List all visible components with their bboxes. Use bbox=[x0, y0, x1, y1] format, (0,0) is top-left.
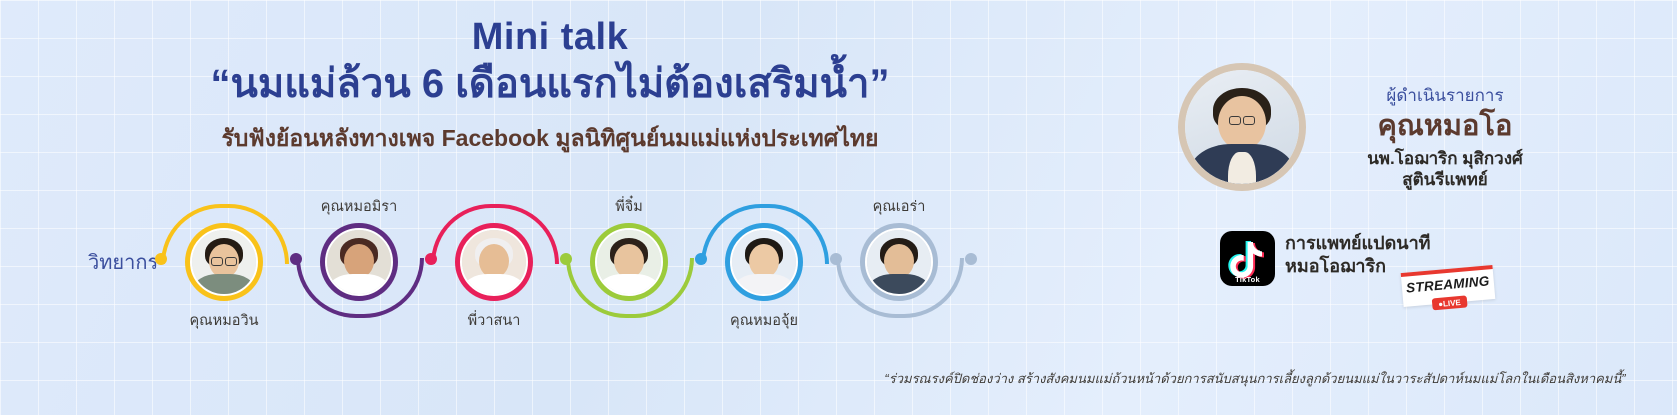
headline-quote: “นมแม่ล้วน 6 เดือนแรกไม่ต้องเสริมน้ำ” bbox=[0, 62, 1100, 107]
speaker-photo bbox=[462, 230, 526, 294]
connector-dot bbox=[560, 253, 572, 265]
footer-caption: “ร่วมรณรงค์ปิดช่องว่าง สร้างสังคมนมแม่ถ้… bbox=[840, 368, 1670, 389]
speaker-photo bbox=[327, 230, 391, 294]
host-info: ผู้ดำเนินรายการ คุณหมอโอ นพ.โอฌาริก มุสิ… bbox=[1320, 82, 1570, 190]
tiktok-label: TikTok bbox=[1220, 275, 1275, 284]
connector-dot bbox=[290, 253, 302, 265]
streaming-label: STREAMING bbox=[1401, 273, 1494, 296]
speaker-item[interactable]: คุณเอร่า bbox=[860, 223, 938, 301]
speaker-name: คุณเอร่า bbox=[824, 195, 974, 218]
connector-dot bbox=[155, 253, 167, 265]
connector-dot bbox=[425, 253, 437, 265]
live-badge: ●LIVE bbox=[1432, 295, 1468, 310]
speakers-section-label: วิทยากร bbox=[88, 246, 158, 278]
host-avatar bbox=[1178, 63, 1306, 191]
speaker-item[interactable]: คุณหมอวิน bbox=[185, 223, 263, 301]
speaker-item[interactable]: คุณหมอจุ้ย bbox=[725, 223, 803, 301]
speaker-item[interactable]: คุณหมอมิรา bbox=[320, 223, 398, 301]
page-title: Mini talk bbox=[0, 18, 1100, 56]
subtitle-replay-info: รับฟังย้อนหลังทางเพจ Facebook มูลนิทิศูน… bbox=[0, 121, 1100, 157]
host-nickname: คุณหมอโอ bbox=[1320, 111, 1570, 143]
speaker-name: พี่วาสนา bbox=[419, 309, 569, 332]
channel-name-line1: การแพทย์แปดนาที bbox=[1285, 232, 1431, 255]
speaker-name: คุณหมอจุ้ย bbox=[689, 309, 839, 332]
speaker-photo bbox=[597, 230, 661, 294]
host-full-name: นพ.โอฌาริก มุสิกวงศ์ bbox=[1320, 148, 1570, 169]
speakers-row: คุณหมอวินคุณหมอมิราพี่วาสนาพี่จิ๋มคุณหมอ… bbox=[175, 188, 1015, 338]
speaker-photo bbox=[192, 230, 256, 294]
connector-dot bbox=[695, 253, 707, 265]
promo-banner: Mini talk “นมแม่ล้วน 6 เดือนแรกไม่ต้องเส… bbox=[0, 0, 1677, 415]
title-block: Mini talk “นมแม่ล้วน 6 เดือนแรกไม่ต้องเส… bbox=[0, 18, 1100, 157]
streaming-badge: STREAMING ●LIVE bbox=[1401, 265, 1496, 307]
speaker-photo bbox=[867, 230, 931, 294]
speaker-item[interactable]: พี่วาสนา bbox=[455, 223, 533, 301]
speaker-item[interactable]: พี่จิ๋ม bbox=[590, 223, 668, 301]
speaker-name: คุณหมอวิน bbox=[149, 309, 299, 332]
connector-dot bbox=[830, 253, 842, 265]
host-avatar-image bbox=[1185, 70, 1299, 184]
host-role-label: ผู้ดำเนินรายการ bbox=[1320, 82, 1570, 109]
tiktok-icon[interactable]: TikTok bbox=[1220, 231, 1275, 286]
connector-dot bbox=[965, 253, 977, 265]
host-specialty: สูตินรีแพทย์ bbox=[1320, 169, 1570, 190]
channel-name: การแพทย์แปดนาที หมอโอฌาริก bbox=[1285, 232, 1431, 278]
speaker-name: พี่จิ๋ม bbox=[554, 195, 704, 218]
speaker-name: คุณหมอมิรา bbox=[284, 195, 434, 218]
speaker-photo bbox=[732, 230, 796, 294]
